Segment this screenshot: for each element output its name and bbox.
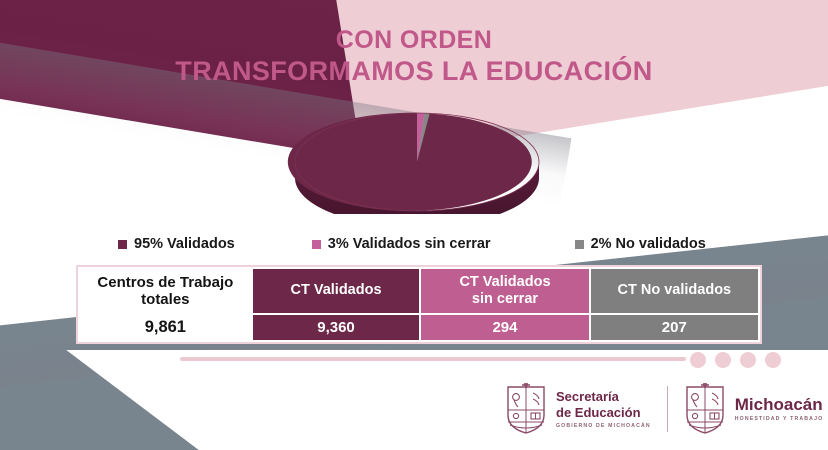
table-cell-total-value: 9,861 <box>80 315 251 340</box>
page-title: CON ORDEN TRANSFORMAMOS LA EDUCACIÓN <box>0 26 828 87</box>
logo-secretaria-educacion: Secretaría de Educación GOBIERNO DE MICH… <box>505 383 651 435</box>
legend-label-validados: 95% Validados <box>134 236 235 252</box>
legend-swatch-icon <box>575 240 584 249</box>
table-header-sin-cerrar: CT Validados sin cerrar <box>421 269 588 313</box>
table-header-validados: CT Validados <box>253 269 420 313</box>
chart-legend: 95% Validados 3% Validados sin cerrar 2%… <box>118 236 718 252</box>
decor-dot <box>765 352 781 368</box>
legend-label-sin-cerrar: 3% Validados sin cerrar <box>328 236 491 252</box>
legend-item-validados: 95% Validados <box>118 236 235 252</box>
table-header-no-validados: CT No validados <box>591 269 758 313</box>
michoacan-coat-of-arms-icon <box>505 383 547 435</box>
slide-content: CON ORDEN TRANSFORMAMOS LA EDUCACIÓN <box>0 0 828 450</box>
decor-dot <box>740 352 756 368</box>
summary-table: Centros de Trabajo totales CT Validados … <box>76 265 762 344</box>
decor-dot <box>715 352 731 368</box>
legend-swatch-icon <box>312 240 321 249</box>
title-line-2: TRANSFORMAMOS LA EDUCACIÓN <box>0 56 828 88</box>
table-cell-no-validados-value: 207 <box>591 315 758 340</box>
table-header-validados-line1: CT Validados <box>253 282 420 299</box>
legend-item-no-validados: 2% No validados <box>575 236 706 252</box>
title-line-1: CON ORDEN <box>0 26 828 56</box>
table-header-total-line2: totales <box>80 291 251 308</box>
michoacan-coat-of-arms-icon <box>684 383 726 435</box>
logo-michoacan-title: Michoacán <box>735 396 824 414</box>
logo-michoacan-subtitle: HONESTIDAD Y TRABAJO <box>735 416 824 422</box>
table-header-sin-cerrar-line1: CT Validados <box>421 274 588 291</box>
logo-divider <box>667 386 668 432</box>
logo-secretaria-line1: Secretaría <box>556 389 651 404</box>
table-cell-sin-cerrar-value: 294 <box>421 315 588 340</box>
table-header-sin-cerrar-line2: sin cerrar <box>421 291 588 308</box>
table-cell-validados-value: 9,360 <box>253 315 420 340</box>
legend-item-sin-cerrar: 3% Validados sin cerrar <box>312 236 491 252</box>
table-header-total: Centros de Trabajo totales <box>80 269 251 313</box>
logo-secretaria-text: Secretaría de Educación GOBIERNO DE MICH… <box>556 389 651 428</box>
table-header-total-line1: Centros de Trabajo <box>80 274 251 291</box>
table-header-no-validados-line1: CT No validados <box>591 282 758 299</box>
decor-dot <box>690 352 706 368</box>
legend-swatch-icon <box>118 240 127 249</box>
table-row: 9,861 9,360 294 207 <box>80 315 758 340</box>
logo-secretaria-line2: de Educación <box>556 405 651 420</box>
pie-slice-validados <box>288 113 532 211</box>
footer-logos: Secretaría de Educación GOBIERNO DE MICH… <box>505 383 823 435</box>
presentation-slide: CON ORDEN TRANSFORMAMOS LA EDUCACIÓN <box>0 0 828 450</box>
table-header-row: Centros de Trabajo totales CT Validados … <box>80 269 758 313</box>
pie-chart <box>287 104 547 214</box>
logo-michoacan-text: Michoacán HONESTIDAD Y TRABAJO <box>735 396 824 423</box>
legend-label-no-validados: 2% No validados <box>591 236 706 252</box>
decor-rule-line <box>180 357 686 361</box>
logo-secretaria-subtitle: GOBIERNO DE MICHOACÁN <box>556 423 651 429</box>
decor-dots <box>690 352 781 368</box>
logo-michoacan: Michoacán HONESTIDAD Y TRABAJO <box>684 383 824 435</box>
